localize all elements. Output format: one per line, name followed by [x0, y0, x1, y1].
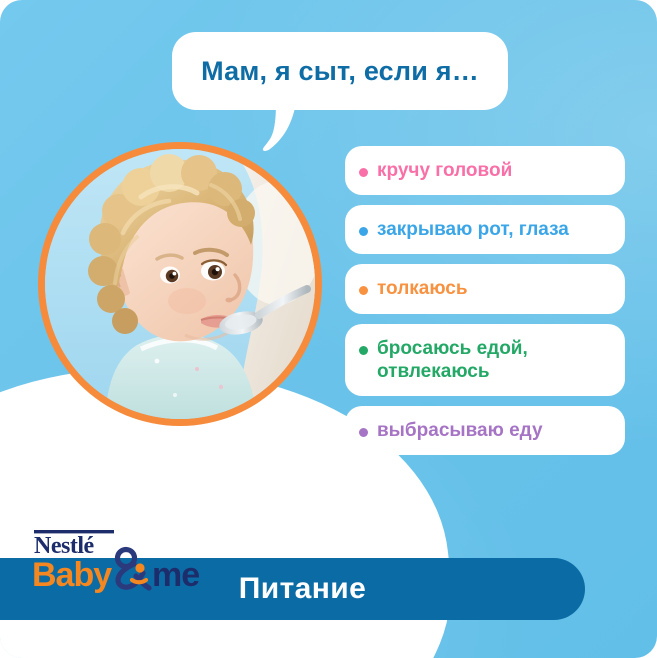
list-item-label: закрываю рот, глаза	[377, 218, 569, 241]
photo-ring	[38, 142, 322, 426]
logo-ampersand-icon	[118, 550, 150, 589]
list-item[interactable]: закрываю рот, глаза	[345, 205, 625, 254]
logo-baby-text: Baby	[32, 556, 112, 594]
bullet-dot-icon	[359, 286, 368, 295]
bullet-dot-icon	[359, 227, 368, 236]
speech-bubble: Мам, я сыт, если я…	[172, 32, 508, 110]
nestle-baby-and-me-logo[interactable]: Nestlé Baby me	[26, 526, 226, 596]
speech-bubble-text: Мам, я сыт, если я…	[201, 56, 479, 87]
list-item[interactable]: кручу головой	[345, 146, 625, 195]
logo-me-text: me	[152, 556, 199, 594]
list-item[interactable]: выбрасываю еду	[345, 406, 625, 455]
child-photo	[45, 149, 315, 419]
list-item[interactable]: бросаюсь едой, отвлекаюсь	[345, 324, 625, 396]
list-item-label: выбрасываю еду	[377, 419, 543, 442]
poster-canvas: Мам, я сыт, если я…	[0, 0, 657, 658]
bullet-dot-icon	[359, 346, 368, 355]
list-item-label: толкаюсь	[377, 277, 468, 300]
tips-card-list: кручу головой закрываю рот, глаза толкаю…	[345, 146, 625, 465]
child-photo-illustration	[45, 149, 315, 419]
list-item[interactable]: толкаюсь	[345, 264, 625, 313]
list-item-label: кручу головой	[377, 159, 512, 182]
bullet-dot-icon	[359, 428, 368, 437]
logo-artwork: Nestlé Baby me	[26, 526, 226, 596]
list-item-label: бросаюсь едой, отвлекаюсь	[377, 337, 609, 383]
speech-bubble-tail-icon	[250, 101, 300, 153]
bullet-dot-icon	[359, 168, 368, 177]
